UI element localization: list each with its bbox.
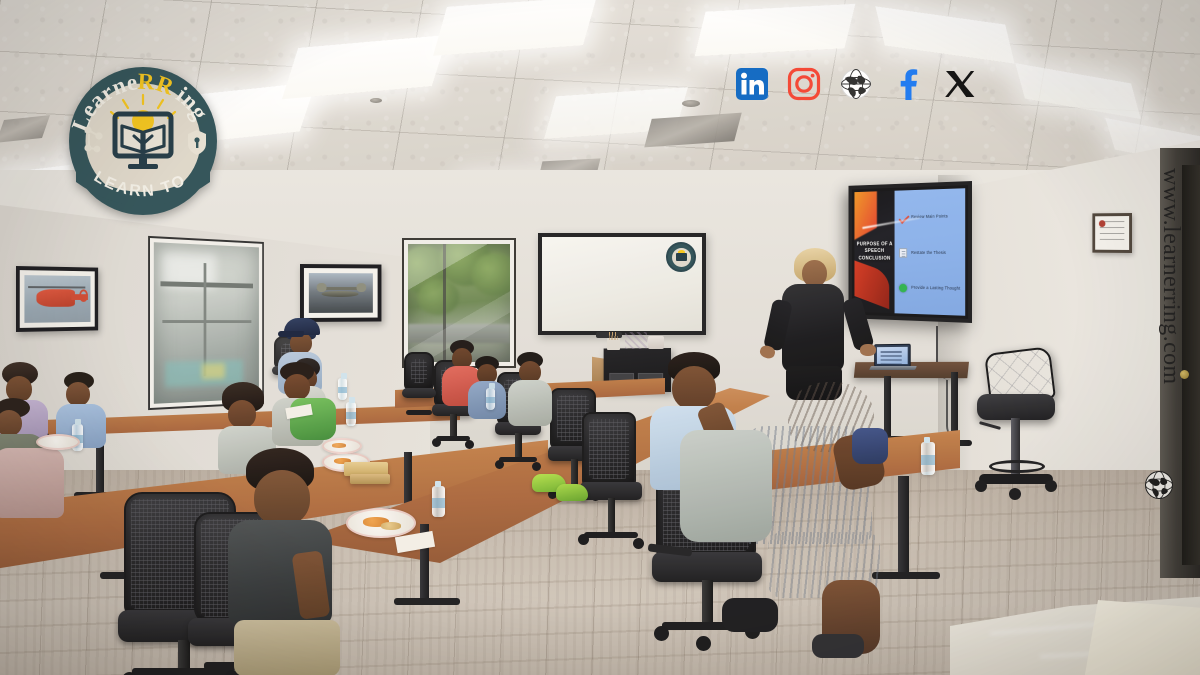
- globe-icon: [1144, 470, 1174, 500]
- drafting-stool: [975, 350, 1059, 520]
- whiteboard: [538, 233, 706, 335]
- document-icon: [899, 248, 907, 258]
- linkedin-icon[interactable]: ®: [733, 65, 771, 103]
- audience-member: [278, 318, 334, 382]
- instagram-icon[interactable]: [785, 65, 823, 103]
- slide-bullet: Provide a Lasting Thought: [899, 283, 960, 293]
- framed-osprey-photo: [300, 264, 381, 322]
- svg-text:®: ®: [764, 94, 769, 101]
- sneaker: [556, 484, 588, 501]
- exit-door[interactable]: [1182, 165, 1200, 565]
- x-twitter-icon[interactable]: [941, 65, 979, 103]
- white-tablecloth-fold: [1084, 600, 1200, 675]
- facebook-icon[interactable]: [889, 65, 927, 103]
- smoke-detector-icon: [682, 100, 700, 107]
- slide-bullet-panel: Review Main Points Restate the Thesis Pr…: [895, 188, 965, 316]
- classroom-photo-scene: PURPOSE OF A SPEECH CONCLUSION Review Ma…: [0, 0, 1200, 675]
- tissue-box: [625, 332, 647, 349]
- paper-plate-with-food: [346, 508, 416, 538]
- water-bottle: [486, 388, 495, 410]
- mesh-office-chair: [580, 412, 642, 560]
- slide-bullet: Restate the Thesis: [899, 248, 960, 258]
- audience-member: [222, 448, 342, 675]
- framed-helicopter-photo: [16, 266, 98, 332]
- cap-brim: [278, 331, 304, 337]
- slide-bullet-text: Restate the Thesis: [911, 250, 946, 255]
- table-foot: [394, 598, 460, 605]
- learnerring-logo-badge: Learne RR ing: [66, 64, 220, 218]
- audience-member: [680, 430, 776, 550]
- laptop: [870, 344, 914, 370]
- mesh-office-chair: [402, 352, 436, 422]
- social-icon-row: ®: [733, 60, 979, 108]
- audience-member: [0, 448, 66, 524]
- pencil-cup: [607, 338, 620, 350]
- water-bottle: [346, 402, 356, 426]
- globe-website-icon[interactable]: [837, 65, 875, 103]
- whiteboard-logo-sticker: [666, 242, 696, 272]
- water-bottle: [338, 378, 347, 400]
- presentation-screen: PURPOSE OF A SPEECH CONCLUSION Review Ma…: [848, 181, 972, 323]
- green-dot-icon: [899, 283, 907, 292]
- audience-member: [508, 352, 552, 426]
- slide: PURPOSE OF A SPEECH CONCLUSION Review Ma…: [854, 188, 965, 316]
- audience-member: [290, 398, 338, 442]
- smoke-detector-icon: [370, 98, 382, 103]
- supply-box: [648, 336, 664, 349]
- water-bottle: [921, 442, 935, 475]
- framed-certificate: [1092, 213, 1132, 253]
- paper-plate: [36, 434, 80, 450]
- slide-bullet-text: Provide a Lasting Thought: [911, 285, 960, 291]
- ceiling-panel-light: [695, 4, 856, 56]
- website-url-watermark: www.learnerring.com: [1157, 168, 1184, 385]
- water-bottle: [432, 486, 445, 517]
- paper-plate-with-food: [322, 438, 362, 454]
- book-stack: [350, 474, 390, 484]
